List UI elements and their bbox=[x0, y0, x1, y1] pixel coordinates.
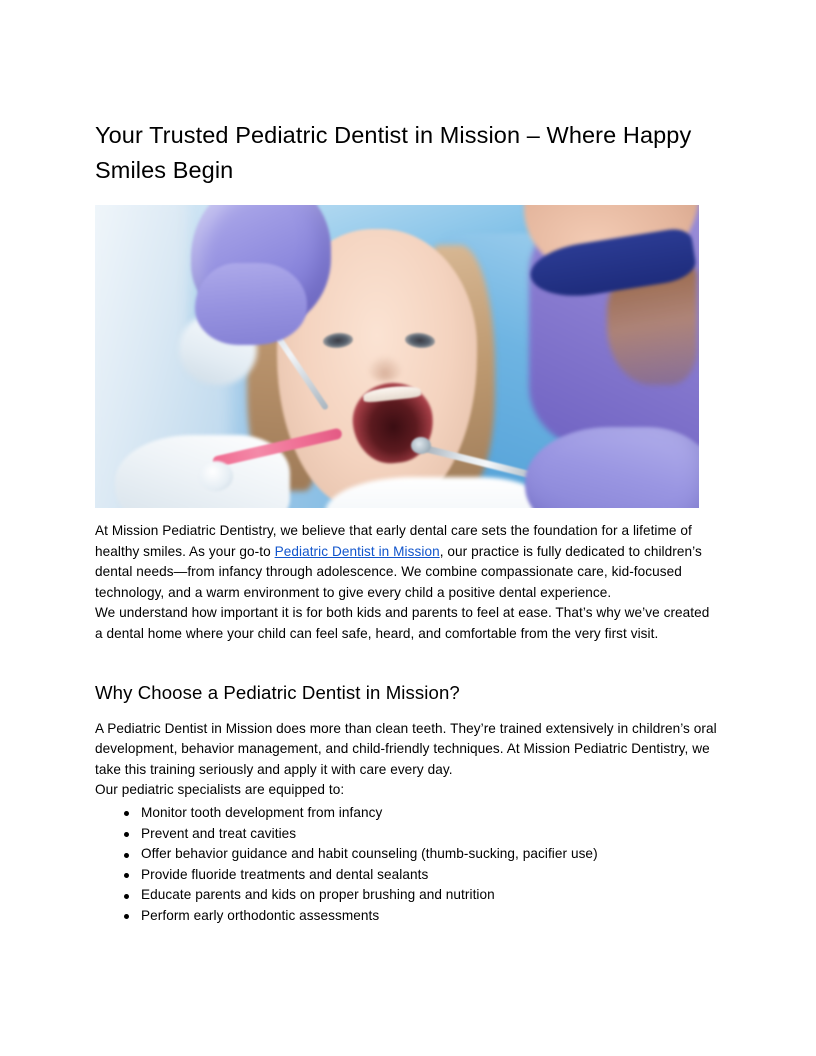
list-item-label: Monitor tooth development from infancy bbox=[141, 805, 382, 820]
bullet-icon bbox=[124, 832, 129, 837]
list-item-label: Prevent and treat cavities bbox=[141, 826, 296, 841]
list-item-label: Perform early orthodontic assessments bbox=[141, 908, 379, 923]
bullet-icon bbox=[124, 873, 129, 878]
bullet-icon bbox=[124, 894, 129, 899]
list-item: Monitor tooth development from infancy bbox=[95, 803, 719, 824]
list-item: Prevent and treat cavities bbox=[95, 824, 719, 845]
bullet-icon bbox=[124, 811, 129, 816]
section-list-intro: Our pediatric specialists are equipped t… bbox=[95, 780, 719, 801]
capabilities-list: Monitor tooth development from infancy P… bbox=[95, 803, 719, 927]
intro-paragraph-2: We understand how important it is for bo… bbox=[95, 603, 719, 644]
pediatric-dentist-link[interactable]: Pediatric Dentist in Mission bbox=[275, 544, 440, 559]
purple-glove-fingers bbox=[195, 263, 307, 345]
list-item: Perform early orthodontic assessments bbox=[95, 906, 719, 927]
section-paragraph-1: A Pediatric Dentist in Mission does more… bbox=[95, 719, 719, 781]
bullet-icon bbox=[124, 914, 129, 919]
list-item-label: Educate parents and kids on proper brush… bbox=[141, 887, 495, 902]
list-item-label: Provide fluoride treatments and dental s… bbox=[141, 867, 428, 882]
hero-image bbox=[95, 205, 699, 508]
dental-mirror-head bbox=[411, 437, 431, 454]
list-item: Offer behavior guidance and habit counse… bbox=[95, 844, 719, 865]
child-nose bbox=[367, 355, 403, 381]
hero-image-canvas bbox=[95, 205, 699, 508]
section-heading-why-choose: Why Choose a Pediatric Dentist in Missio… bbox=[95, 680, 719, 706]
list-item: Provide fluoride treatments and dental s… bbox=[95, 865, 719, 886]
list-item-label: Offer behavior guidance and habit counse… bbox=[141, 846, 598, 861]
list-item: Educate parents and kids on proper brush… bbox=[95, 885, 719, 906]
page-title: Your Trusted Pediatric Dentist in Missio… bbox=[95, 118, 719, 188]
document-body: Your Trusted Pediatric Dentist in Missio… bbox=[95, 118, 719, 927]
bullet-icon bbox=[124, 853, 129, 858]
document-page: Your Trusted Pediatric Dentist in Missio… bbox=[0, 0, 816, 1056]
pink-tool-grip bbox=[199, 461, 233, 491]
intro-paragraph-1: At Mission Pediatric Dentistry, we belie… bbox=[95, 521, 719, 603]
